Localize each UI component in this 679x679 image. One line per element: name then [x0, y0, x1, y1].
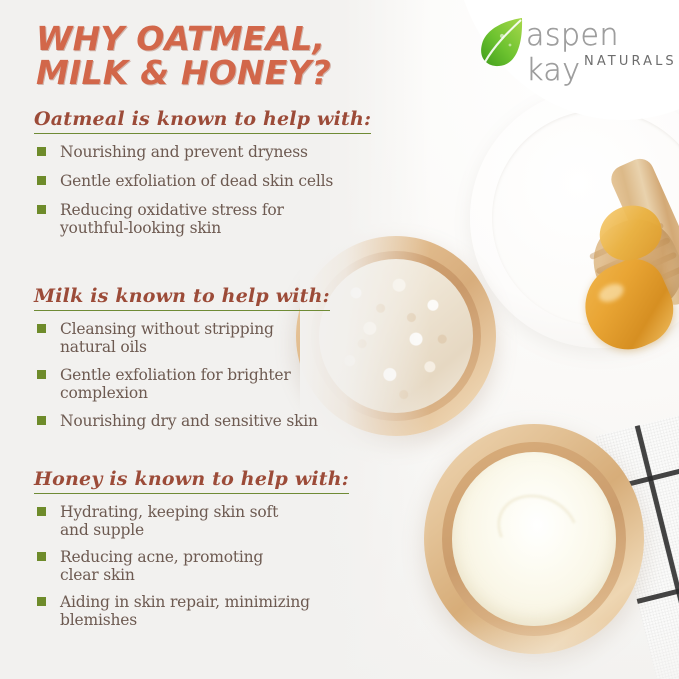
bullet-square-icon — [37, 507, 46, 516]
brand-logo[interactable]: aspen kay NATURALS — [478, 14, 674, 86]
bullet-square-icon — [37, 552, 46, 561]
list-item-label: Gentle exfoliation for brighter complexi… — [60, 366, 374, 402]
list-item-label: Reducing acne, promoting clear skin — [60, 548, 374, 584]
bullet-square-icon — [37, 416, 46, 425]
section-oatmeal: Oatmeal is known to help with: Nourishin… — [34, 108, 374, 248]
bullet-square-icon — [37, 147, 46, 156]
list-item: Reducing acne, promoting clear skin — [34, 548, 374, 584]
list-item-label: Nourishing and prevent dryness — [60, 143, 374, 161]
list-item: Cleansing without stripping natural oils — [34, 320, 374, 356]
bullet-square-icon — [37, 324, 46, 333]
list-item: Gentle exfoliation for brighter complexi… — [34, 366, 374, 402]
bullet-square-icon — [37, 597, 46, 606]
page-title: WHY OATMEAL, MILK & HONEY? — [36, 22, 366, 90]
brand-wordmark: aspen kay — [526, 18, 674, 88]
section-honey: Honey is known to help with: Hydrating, … — [34, 468, 374, 638]
leaf-icon — [478, 16, 524, 68]
benefit-list-milk: Cleansing without stripping natural oils… — [34, 320, 374, 430]
bullet-square-icon — [37, 370, 46, 379]
section-heading-oatmeal: Oatmeal is known to help with: — [34, 108, 371, 134]
text-content: WHY OATMEAL, MILK & HONEY? Oatmeal is kn… — [0, 0, 400, 679]
list-item: Nourishing dry and sensitive skin — [34, 412, 374, 430]
list-item-label: Aiding in skin repair, minimizing blemis… — [60, 593, 374, 629]
list-item: Nourishing and prevent dryness — [34, 143, 374, 161]
bullet-square-icon — [37, 176, 46, 185]
list-item: Gentle exfoliation of dead skin cells — [34, 172, 374, 190]
list-item: Reducing oxidative stress for youthful-l… — [34, 201, 374, 237]
benefit-list-honey: Hydrating, keeping skin soft and supple … — [34, 503, 374, 629]
section-milk: Milk is known to help with: Cleansing wi… — [34, 285, 374, 440]
benefit-list-oatmeal: Nourishing and prevent dryness Gentle ex… — [34, 143, 374, 237]
section-heading-milk: Milk is known to help with: — [34, 285, 330, 311]
section-heading-honey: Honey is known to help with: — [34, 468, 349, 494]
infographic-canvas: aspen kay NATURALS WHY OATMEAL, MILK & H… — [0, 0, 679, 679]
list-item-label: Gentle exfoliation of dead skin cells — [60, 172, 374, 190]
brand-tagline: NATURALS — [584, 54, 677, 69]
list-item-label: Hydrating, keeping skin soft and supple — [60, 503, 374, 539]
list-item-label: Nourishing dry and sensitive skin — [60, 412, 374, 430]
list-item-label: Reducing oxidative stress for youthful-l… — [60, 201, 374, 237]
list-item: Hydrating, keeping skin soft and supple — [34, 503, 374, 539]
list-item: Aiding in skin repair, minimizing blemis… — [34, 593, 374, 629]
bullet-square-icon — [37, 205, 46, 214]
list-item-label: Cleansing without stripping natural oils — [60, 320, 374, 356]
